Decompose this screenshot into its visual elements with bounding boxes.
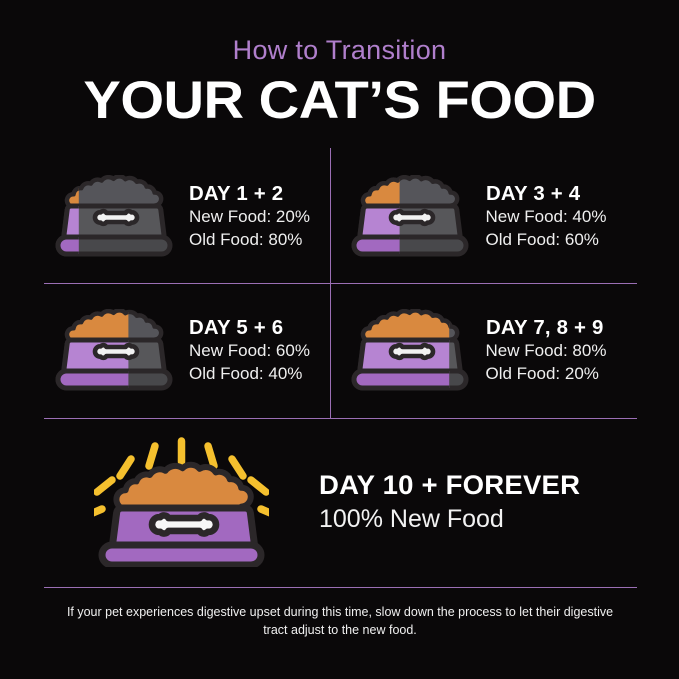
step-day-label: DAY 1 + 2 — [189, 183, 339, 207]
step-old-food: Old Food: 60% — [486, 229, 634, 252]
cat-food-bowl-icon — [54, 309, 178, 393]
page-title: YOUR CAT’S FOOD — [0, 73, 679, 128]
step-text-2: DAY 3 + 4 New Food: 40% Old Food: 60% — [480, 183, 634, 252]
bowl-icon-wrap-3 — [48, 309, 183, 393]
step-text-1: DAY 1 + 2 New Food: 20% Old Food: 80% — [183, 183, 337, 252]
step-old-food: Old Food: 40% — [189, 363, 337, 386]
step-day-label: DAY 5 + 6 — [189, 317, 339, 341]
step-text-3: DAY 5 + 6 New Food: 60% Old Food: 40% — [183, 317, 337, 386]
transition-steps-grid: DAY 1 + 2 New Food: 20% Old Food: 80% — [44, 150, 637, 418]
transition-step-4: DAY 7, 8 + 9 New Food: 80% Old Food: 20% — [341, 284, 638, 418]
footnote: If your pet experiences digestive upset … — [60, 603, 620, 639]
transition-step-3: DAY 5 + 6 New Food: 60% Old Food: 40% — [44, 284, 341, 418]
cat-food-bowl-icon — [350, 175, 474, 259]
step-new-food: New Food: 40% — [486, 206, 634, 229]
step-new-food: New Food: 60% — [189, 340, 337, 363]
bowl-icon-wrap-2 — [345, 175, 480, 259]
cat-food-bowl-icon — [54, 175, 178, 259]
bone-emblem-icon — [391, 211, 433, 224]
final-step-text: DAY 10 + FOREVER 100% New Food — [319, 469, 637, 536]
step-new-food: New Food: 20% — [189, 206, 337, 229]
step-day-label: DAY 7, 8 + 9 — [486, 317, 636, 341]
final-bowl-icon-wrap — [44, 435, 319, 571]
bowl-icon-wrap-1 — [48, 175, 183, 259]
bone-emblem-icon — [95, 345, 137, 358]
divider-horizontal-bottom — [44, 587, 637, 588]
header-subtitle: How to Transition — [0, 36, 679, 66]
cat-food-bowl-icon — [350, 309, 474, 393]
bone-emblem-icon — [152, 515, 216, 533]
transition-step-1: DAY 1 + 2 New Food: 20% Old Food: 80% — [44, 150, 341, 284]
divider-horizontal-middle — [44, 418, 637, 419]
cat-food-bowl-sunburst-icon — [94, 435, 269, 567]
transition-step-2: DAY 3 + 4 New Food: 40% Old Food: 60% — [341, 150, 638, 284]
step-old-food: Old Food: 80% — [189, 229, 337, 252]
final-day-label: DAY 10 + FOREVER — [319, 469, 643, 501]
bone-emblem-icon — [95, 211, 137, 224]
step-old-food: Old Food: 20% — [486, 363, 634, 386]
step-text-4: DAY 7, 8 + 9 New Food: 80% Old Food: 20% — [480, 317, 634, 386]
bone-emblem-icon — [391, 345, 433, 358]
step-new-food: New Food: 80% — [486, 340, 634, 363]
infographic-root: How to Transition YOUR CAT’S FOOD — [0, 0, 679, 679]
bowl-icon-wrap-4 — [345, 309, 480, 393]
final-step-row: DAY 10 + FOREVER 100% New Food — [44, 425, 637, 580]
final-sub-label: 100% New Food — [319, 503, 637, 536]
step-day-label: DAY 3 + 4 — [486, 183, 636, 207]
header: How to Transition YOUR CAT’S FOOD — [0, 0, 679, 128]
